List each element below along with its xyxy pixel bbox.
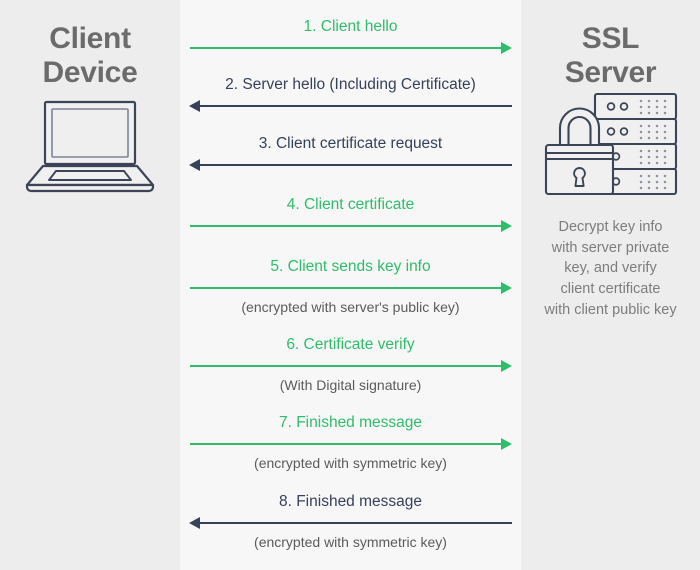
- step-8-sublabel: (encrypted with symmetric key): [180, 534, 521, 551]
- step-5-arrow-client-to-server: [180, 282, 521, 294]
- step-8-label: 8. Finished message: [180, 493, 521, 512]
- handshake-step-8: 8. Finished message (encrypted with symm…: [180, 493, 521, 550]
- arrow-line: [198, 164, 512, 167]
- arrow-head-left-icon: [189, 159, 200, 171]
- step-6-label: 6. Certificate verify: [180, 336, 521, 355]
- server-column: SSL Server: [521, 0, 700, 570]
- padlock-server-icon: [521, 91, 700, 203]
- client-title: Client Device: [0, 0, 180, 89]
- arrow-line: [190, 287, 503, 290]
- server-description: Decrypt key info with server private key…: [531, 217, 691, 320]
- handshake-step-2: 2. Server hello (Including Certificate): [180, 76, 521, 112]
- arrow-head-right-icon: [501, 220, 512, 232]
- arrow-line: [198, 105, 512, 108]
- step-6-sublabel: (With Digital signature): [180, 377, 521, 394]
- handshake-step-7: 7. Finished message (encrypted with symm…: [180, 414, 521, 471]
- handshake-step-1: 1. Client hello: [180, 18, 521, 54]
- step-1-arrow-client-to-server: [180, 42, 521, 54]
- step-3-arrow-server-to-client: [180, 159, 521, 171]
- server-title: SSL Server: [521, 0, 700, 89]
- arrow-head-right-icon: [501, 438, 512, 450]
- step-7-label: 7. Finished message: [180, 414, 521, 433]
- arrow-line: [190, 47, 503, 50]
- step-3-label: 3. Client certificate request: [180, 135, 521, 154]
- handshake-step-6: 6. Certificate verify (With Digital sign…: [180, 336, 521, 393]
- arrow-line: [190, 443, 503, 446]
- arrow-head-left-icon: [189, 100, 200, 112]
- step-8-arrow-server-to-client: [180, 517, 521, 529]
- step-6-arrow-client-to-server: [180, 360, 521, 372]
- arrow-head-right-icon: [501, 42, 512, 54]
- step-1-label: 1. Client hello: [180, 18, 521, 37]
- arrow-line: [190, 225, 503, 228]
- laptop-icon: [0, 99, 180, 194]
- step-4-label: 4. Client certificate: [180, 196, 521, 215]
- step-5-label: 5. Client sends key info: [180, 258, 521, 277]
- step-7-sublabel: (encrypted with symmetric key): [180, 455, 521, 472]
- step-5-sublabel: (encrypted with server's public key): [180, 299, 521, 316]
- handshake-step-3: 3. Client certificate request: [180, 135, 521, 171]
- client-column: Client Device: [0, 0, 180, 570]
- arrow-line: [198, 522, 512, 525]
- arrow-line: [190, 365, 503, 368]
- handshake-step-5: 5. Client sends key info (encrypted with…: [180, 258, 521, 315]
- arrow-head-right-icon: [501, 282, 512, 294]
- ssl-handshake-diagram: Client Device 1. Client hello: [0, 0, 700, 570]
- handshake-sequence-panel: 1. Client hello 2. Server hello (Includi…: [180, 0, 521, 570]
- arrow-head-left-icon: [189, 517, 200, 529]
- handshake-step-4: 4. Client certificate: [180, 196, 521, 232]
- step-7-arrow-client-to-server: [180, 438, 521, 450]
- arrow-head-right-icon: [501, 360, 512, 372]
- step-2-arrow-server-to-client: [180, 100, 521, 112]
- step-4-arrow-client-to-server: [180, 220, 521, 232]
- step-2-label: 2. Server hello (Including Certificate): [180, 76, 521, 95]
